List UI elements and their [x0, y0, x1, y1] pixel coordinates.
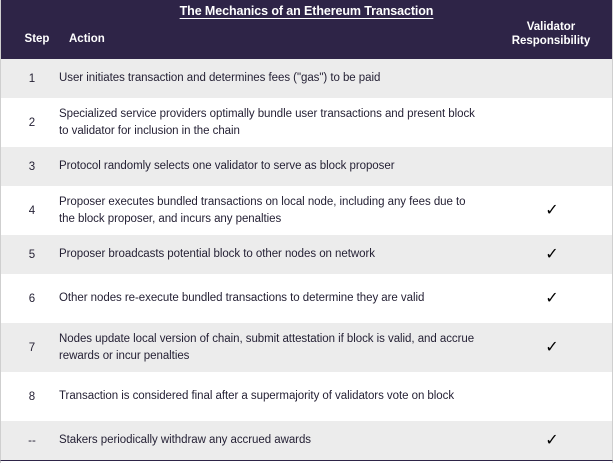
table-header: The Mechanics of an Ethereum Transaction…	[0, 0, 613, 59]
cell-step: --	[1, 435, 59, 447]
cell-action: Other nodes re-execute bundled transacti…	[59, 290, 492, 307]
cell-action: Proposer broadcasts potential block to o…	[59, 246, 492, 263]
table-row: 1User initiates transaction and determin…	[1, 59, 612, 98]
cell-action: Nodes update local version of chain, sub…	[59, 331, 492, 364]
checkmark-icon: ✓	[492, 247, 612, 263]
column-header-validator-line2: Responsibility	[491, 34, 611, 48]
checkmark-icon: ✓	[492, 433, 612, 449]
page-title: The Mechanics of an Ethereum Transaction	[1, 4, 612, 18]
column-header-validator-line1: Validator	[491, 20, 611, 34]
cell-action: User initiates transaction and determine…	[59, 70, 492, 87]
checkmark-icon: ✓	[492, 291, 612, 307]
table-row: 2Specialized service providers optimally…	[1, 98, 612, 147]
cell-step: 8	[1, 391, 59, 403]
table-row: 7Nodes update local version of chain, su…	[1, 323, 612, 372]
table-body: 1User initiates transaction and determin…	[0, 59, 613, 461]
cell-action: Proposer executes bundled transactions o…	[59, 194, 492, 227]
cell-step: 5	[1, 249, 59, 261]
cell-step: 4	[1, 205, 59, 217]
table-row: 8Transaction is considered final after a…	[1, 372, 612, 421]
column-header-step: Step	[15, 33, 59, 45]
cell-step: 3	[1, 161, 59, 173]
table-row: 5Proposer broadcasts potential block to …	[1, 235, 612, 274]
cell-step: 7	[1, 342, 59, 354]
ethereum-transaction-mechanics-table: The Mechanics of an Ethereum Transaction…	[0, 0, 613, 463]
cell-action: Protocol randomly selects one validator …	[59, 158, 492, 175]
cell-step: 2	[1, 117, 59, 129]
cell-step: 1	[1, 73, 59, 85]
cell-step: 6	[1, 293, 59, 305]
column-header-action: Action	[69, 33, 105, 45]
column-header-validator-responsibility: Validator Responsibility	[491, 20, 611, 48]
table-row: 4Proposer executes bundled transactions …	[1, 186, 612, 235]
table-row: 6Other nodes re-execute bundled transact…	[1, 274, 612, 323]
cell-action: Transaction is considered final after a …	[59, 388, 492, 405]
table-row: 3Protocol randomly selects one validator…	[1, 147, 612, 186]
cell-action: Specialized service providers optimally …	[59, 106, 492, 139]
table-row: --Stakers periodically withdraw any accr…	[1, 421, 612, 460]
checkmark-icon: ✓	[492, 203, 612, 219]
cell-action: Stakers periodically withdraw any accrue…	[59, 432, 492, 449]
checkmark-icon: ✓	[492, 340, 612, 356]
